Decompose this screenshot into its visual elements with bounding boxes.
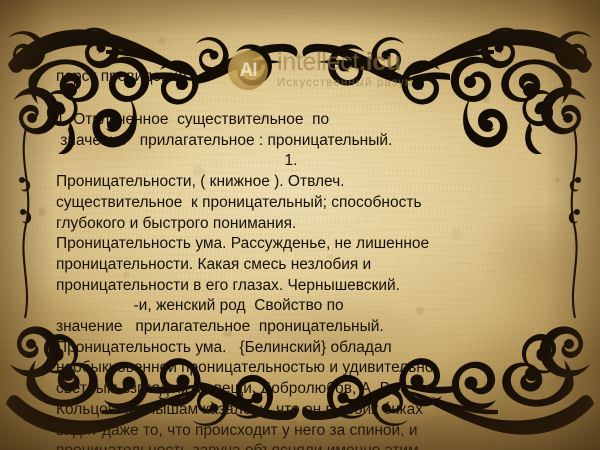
parchment-vignette: [0, 0, 600, 450]
slide-canvas: AI intellect.icu Искусственный разум пер…: [0, 0, 600, 450]
